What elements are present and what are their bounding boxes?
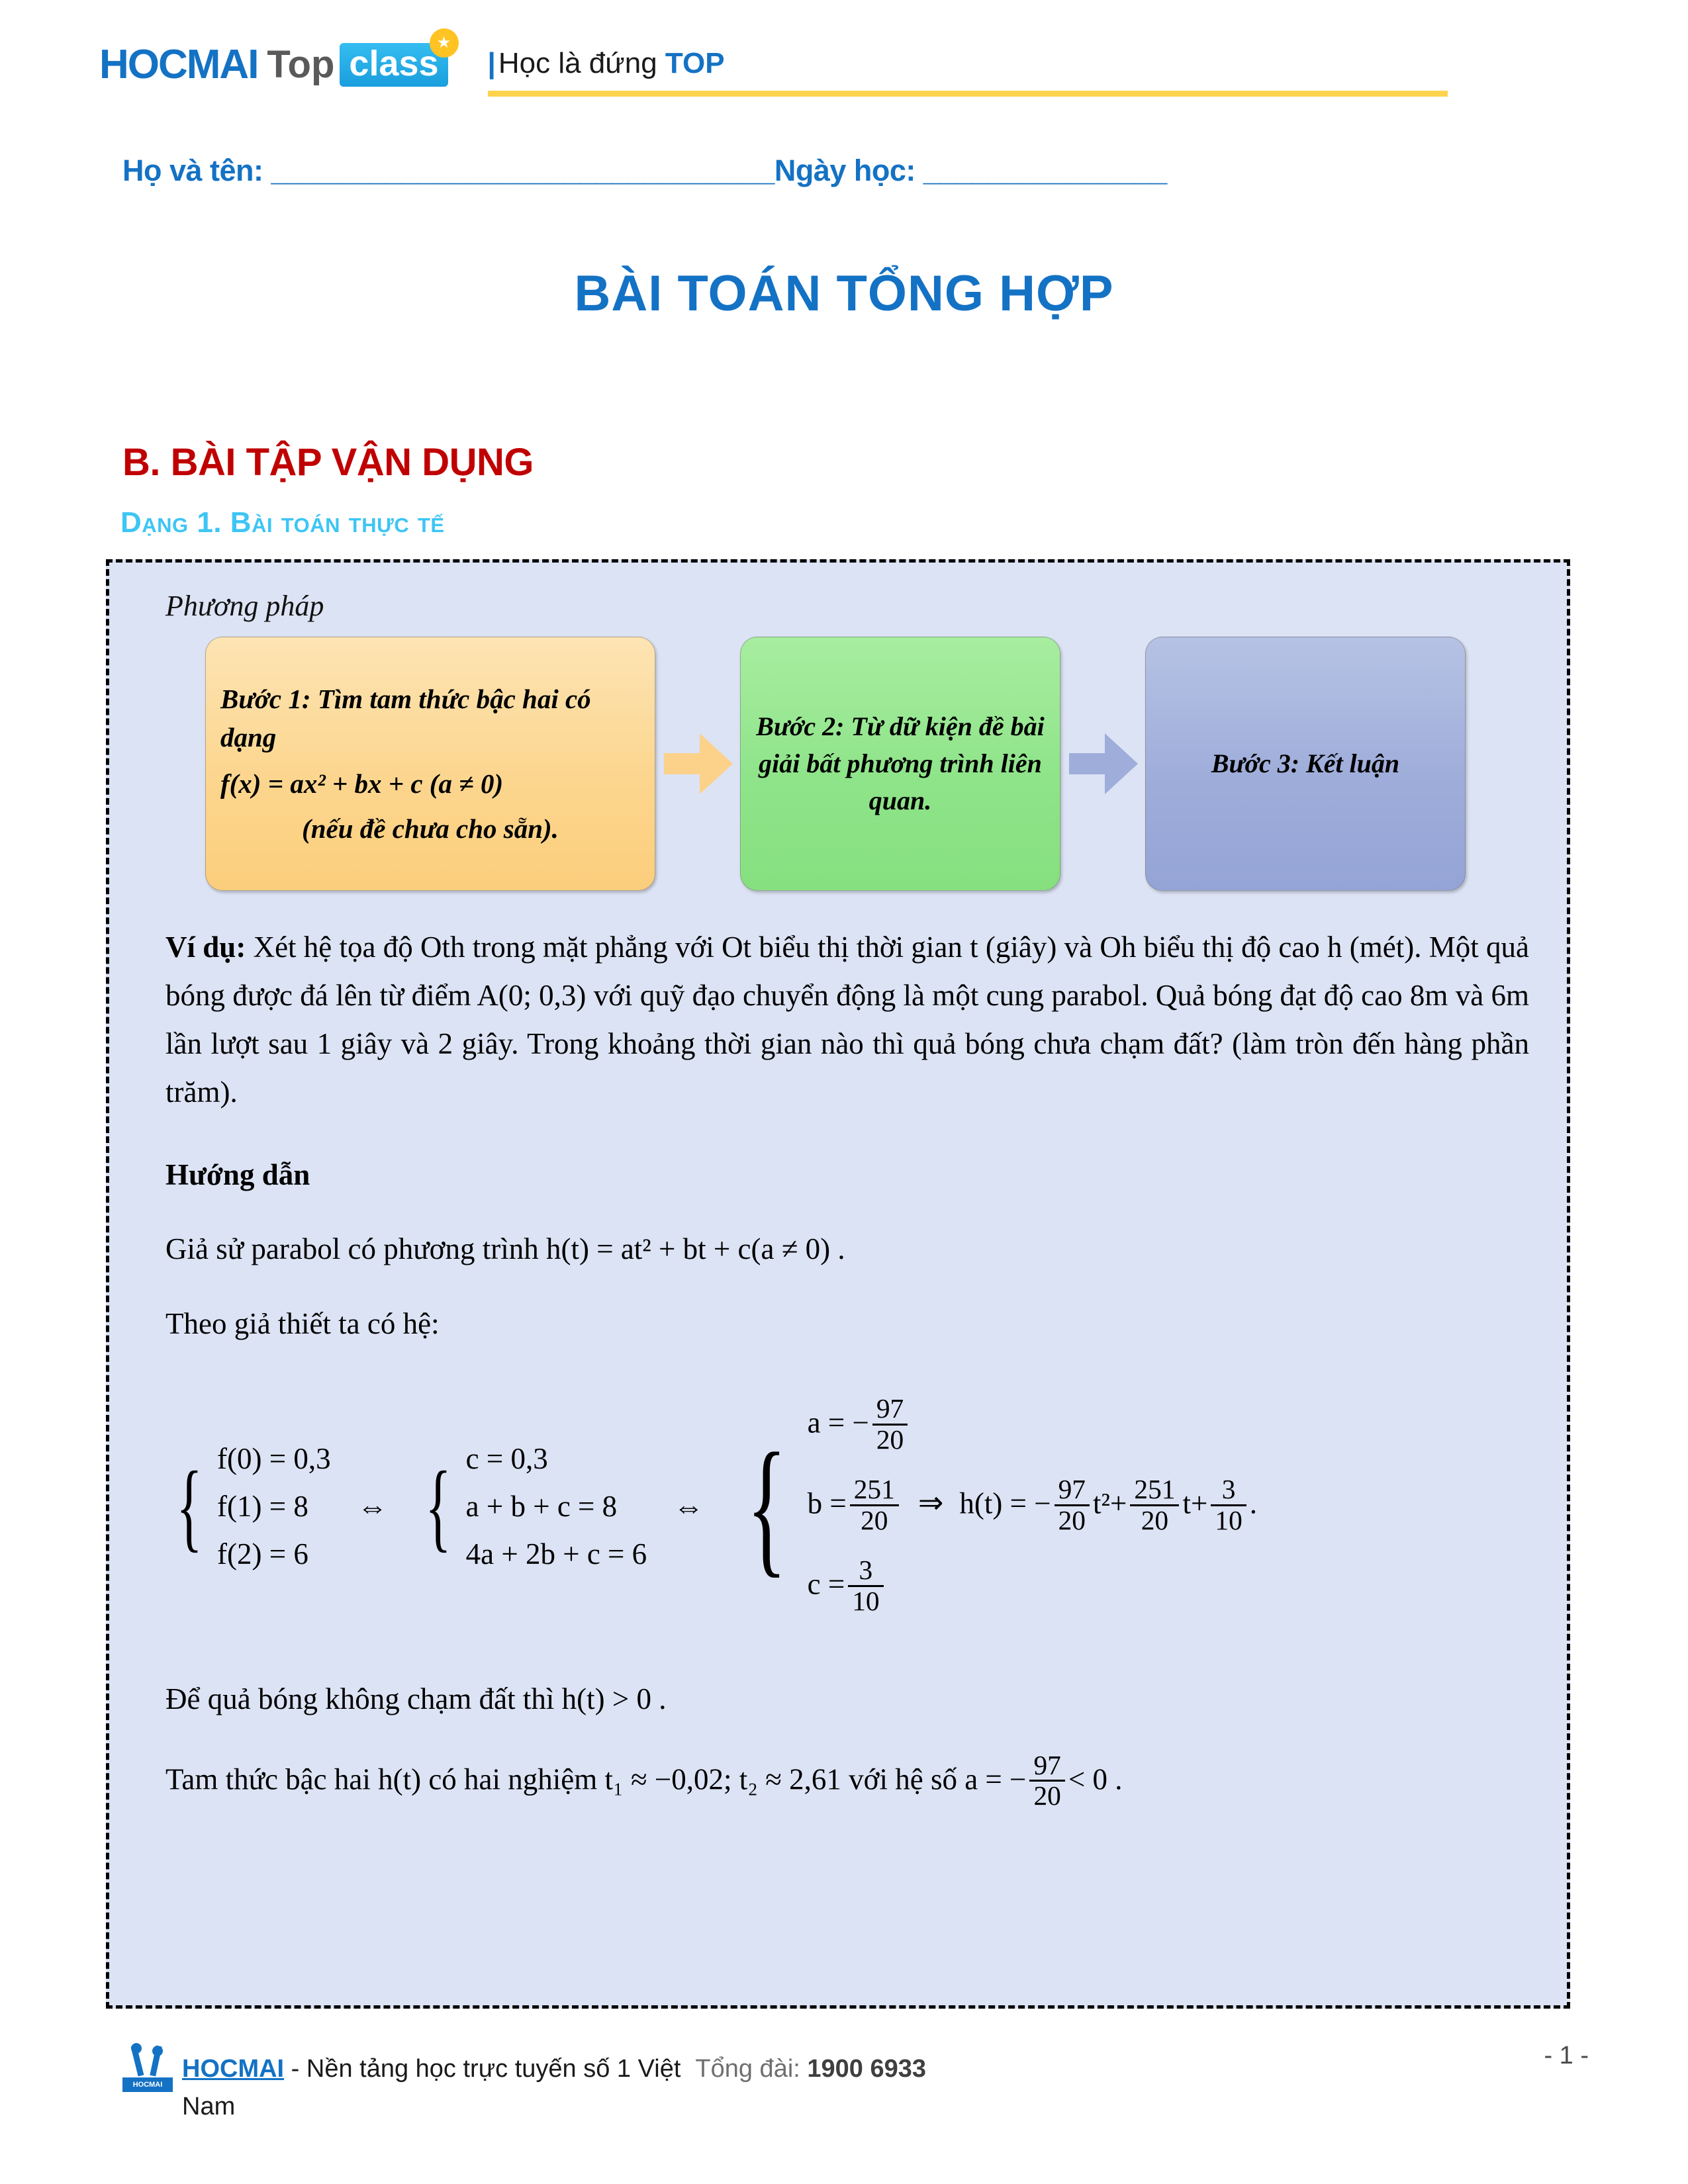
fraction-result-3: 310 [1211,1475,1246,1535]
footer-tagline-second: Nam [182,2093,926,2121]
result-t-squared: t² [1093,1486,1110,1520]
footer-tagline: - Nền tảng học trực tuyến số 1 Việt [284,2055,680,2083]
result-period: . [1250,1486,1257,1520]
logo-top-text: Top [267,46,334,84]
fraction-roots-a: 9720 [1029,1751,1064,1811]
result-t: t [1182,1486,1191,1520]
fraction-result-1: 9720 [1055,1475,1090,1535]
example-text: Xét hệ tọa độ Oth trong mặt phẳng với Ot… [165,931,1529,1109]
solution-assume-equation: h(t) = at² + bt + c(a ≠ 0) . [546,1232,845,1265]
flow-step-1-line1: Bước 1: Tìm tam thức bậc hai [220,684,559,714]
arrow-right-icon-2 [1060,721,1145,807]
hocmai-topclass-logo: HOCMAI Top class [99,36,448,93]
example-label: Ví dụ: [165,931,246,964]
system-3-eq-a: a = −9720 [808,1385,1257,1466]
hocmai-mark-icon [122,2042,173,2092]
brace-left-1: { [176,1476,203,1537]
tagline-text: Học là đứng [498,47,665,79]
system-3-eq-c: c =310 [808,1547,1257,1627]
masthead: HOCMAI Top class |Học là đứng TOP [99,36,1589,116]
system-group-1: f(0) = 0,3 f(1) = 8 f(2) = 6 [217,1435,331,1578]
section-heading-part-b: B. BÀI TẬP VẬN DỤNG [122,440,534,484]
tagline-bar-icon: | [488,47,496,79]
flow-step-1-note: (nếu đề chưa cho sẵn). [220,809,640,848]
flow-step-3-text: Bước 3: Kết luận [1211,745,1399,782]
fraction-a: 9720 [872,1394,908,1454]
solution-assume-line: Giả sử parabol có phương trình h(t) = at… [165,1225,1529,1273]
solution-system-intro: Theo giả thiết ta có hệ: [165,1300,1529,1348]
tagline-underline [488,91,1448,97]
system-1-eq-3: f(2) = 6 [217,1530,331,1578]
footer-hotline-label: Tổng đài: [695,2055,800,2083]
result-plus-2: + [1191,1486,1207,1520]
result-lhs: h(t) = − [959,1486,1051,1520]
system-1-eq-2: f(1) = 8 [217,1482,331,1530]
result-plus-1: + [1110,1486,1127,1520]
flow-step-1-equation: f(x) = ax² + bx + c (a ≠ 0) [220,764,640,803]
method-flowchart: Bước 1: Tìm tam thức bậc hai có dạng f(x… [205,635,1534,893]
fraction-c: 310 [848,1556,883,1615]
page-number: - 1 - [1544,2042,1589,2070]
star-badge-icon [430,28,459,58]
logo-hocmai-text: HOCMAI [99,44,258,85]
equivalence-symbol-2: ⇔ [673,1489,704,1524]
logo-class-wrap: class [340,43,447,87]
solution-condition-line: Để quả bóng không chạm đất thì h(t) > 0 … [165,1675,1529,1723]
student-info-line: Họ và tên: _____________________________… [122,154,1167,188]
system-group-3: a = −9720 b =25120⇒h(t) = −9720t²+25120t… [808,1385,1257,1627]
example-paragraph: Ví dụ: Xét hệ tọa độ Oth trong mặt phẳng… [165,923,1529,1116]
fraction-result-2: 25120 [1130,1475,1179,1535]
method-label: Phương pháp [165,589,1534,623]
system-group-2: c = 0,3 a + b + c = 8 4a + 2b + c = 6 [466,1435,647,1578]
page-title: BÀI TOÁN TỔNG HỢP [0,265,1688,322]
equivalence-symbol-1: ⇔ [357,1489,388,1524]
solution-roots-line: Tam thức bậc hai h(t) có hai nghiệm t₁ ≈… [165,1752,1529,1812]
arrow-right-icon-1 [655,721,740,807]
footer-hotline-number: 1900 6933 [807,2055,926,2083]
tagline-block: |Học là đứng TOP [488,36,725,80]
system-2-eq-1: c = 0,3 [466,1435,647,1482]
flow-step-3-box: Bước 3: Kết luận [1145,637,1466,891]
tagline: |Học là đứng TOP [488,47,725,80]
method-content-box: Phương pháp Bước 1: Tìm tam thức bậc hai… [106,559,1570,2009]
equation-system: { f(0) = 0,3 f(1) = 8 f(2) = 6 ⇔ { c = 0… [165,1385,1534,1627]
system-1-eq-1: f(0) = 0,3 [217,1435,331,1482]
system-2-eq-3: 4a + 2b + c = 6 [466,1530,647,1578]
solution-label: Hướng dẫn [165,1151,1529,1199]
implies-symbol: ⇒ [918,1486,944,1520]
document-page: HOCMAI Top class |Học là đứng TOP Họ và … [0,0,1688,2184]
flow-step-1-box: Bước 1: Tìm tam thức bậc hai có dạng f(x… [205,637,655,891]
flow-step-2-box: Bước 2: Từ dữ kiện đề bài giải bất phươn… [740,637,1060,891]
flow-step-2-text: Bước 2: Từ dữ kiện đề bài giải bất phươn… [755,708,1045,819]
tagline-top-word: TOP [665,47,725,79]
page-footer: HOCMAI - Nền tảng học trực tuyến số 1 Vi… [122,2042,1589,2121]
system-2-eq-2: a + b + c = 8 [466,1482,647,1530]
brace-left-3: { [747,1459,787,1554]
fraction-b: 25120 [850,1475,899,1535]
brace-left-2: { [425,1476,451,1537]
system-3-eq-b: b =25120⇒h(t) = −9720t²+25120t+310. [808,1466,1257,1547]
footer-brand: HOCMAI [182,2055,284,2083]
section-heading-dang-1: Dạng 1. Bài toán thực tế [120,506,445,539]
